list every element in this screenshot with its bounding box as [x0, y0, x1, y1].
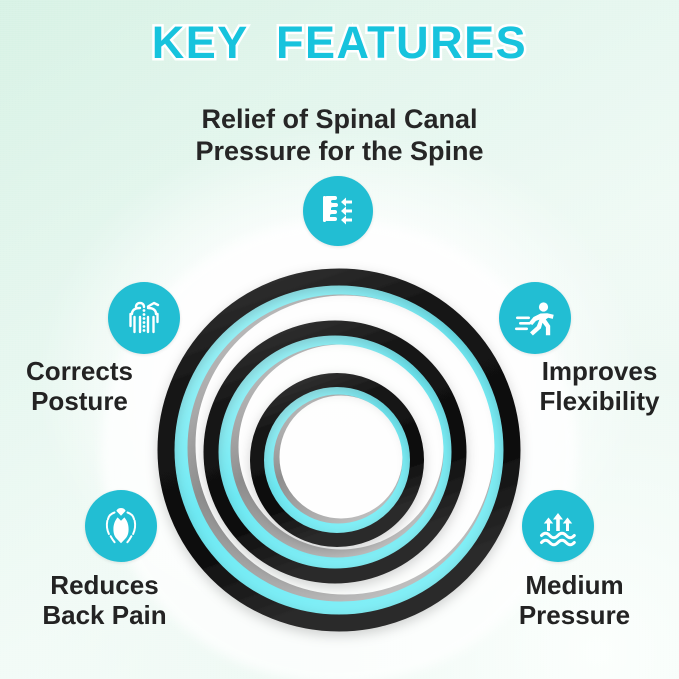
back-muscles-icon	[95, 500, 147, 552]
feature-icon-reduces-back-pain[interactable]	[85, 490, 157, 562]
feature-label-medium-pressure: Medium Pressure	[470, 570, 679, 630]
running-person-icon	[510, 293, 560, 343]
feature-icon-spine-pressure[interactable]	[303, 176, 373, 246]
feature-icon-medium-pressure[interactable]	[522, 490, 594, 562]
feature-icon-improves-flexibility[interactable]	[499, 282, 571, 354]
feature-icon-corrects-posture[interactable]	[108, 282, 180, 354]
feature-label-spine-pressure: Relief of Spinal Canal Pressure for the …	[0, 104, 679, 168]
arrows-waves-icon	[533, 501, 583, 551]
posture-spine-icon	[119, 293, 169, 343]
feature-label-improves-flexibility: Improves Flexibility	[520, 356, 679, 416]
feature-label-corrects-posture: Corrects Posture	[0, 356, 159, 416]
spine-arrows-icon	[314, 187, 362, 235]
feature-label-reduces-back-pain: Reduces Back Pain	[0, 570, 209, 630]
page-title: KEY FEATURES	[0, 17, 679, 69]
key-features-infographic: KEY FEATURES Relief of Spinal Canal Pres…	[0, 0, 679, 679]
